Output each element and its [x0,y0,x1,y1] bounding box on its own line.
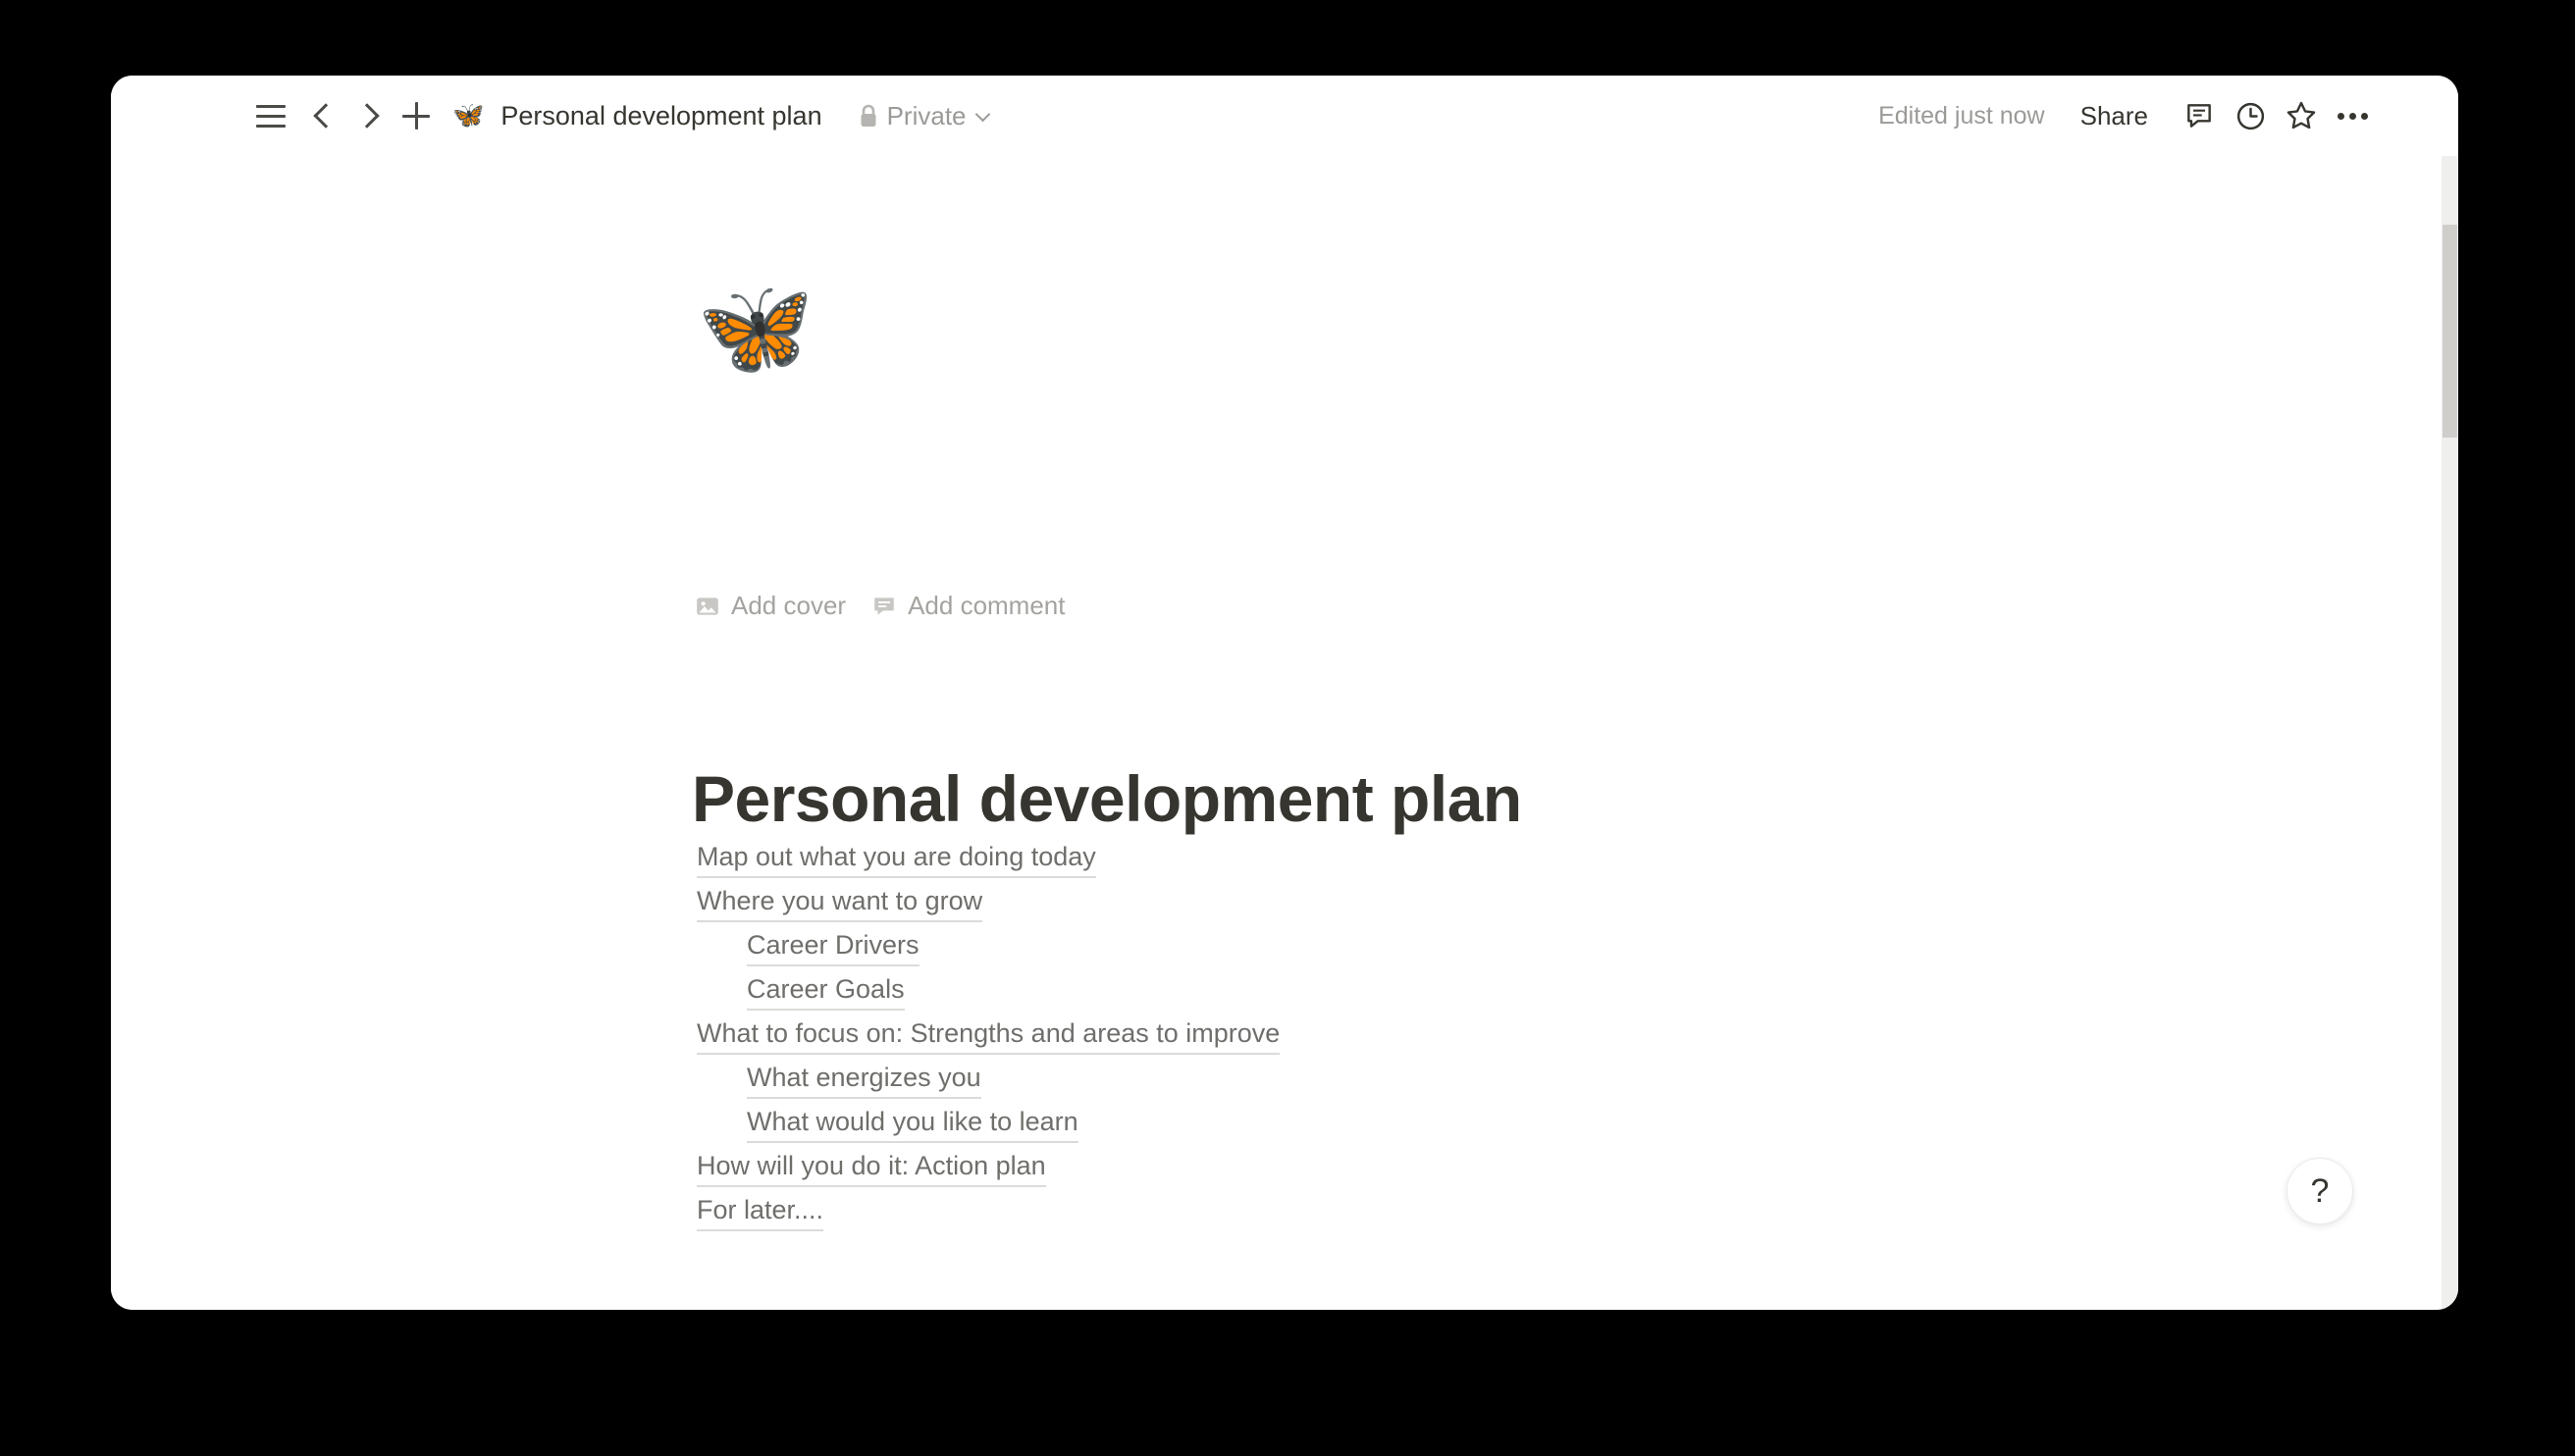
page-action-row: Add cover Add comment [695,591,1065,621]
toc-link[interactable]: Where you want to grow [697,879,2169,923]
app-window: 🦋 Personal development plan Private Edit… [111,76,2458,1310]
clock-history-icon[interactable] [2225,90,2276,141]
toc-link[interactable]: For later.... [697,1188,2169,1232]
comment-bubble-glyph [2183,100,2215,131]
page-title[interactable]: Personal development plan [692,761,1522,836]
hamburger-bar [256,105,286,108]
edited-status-text: Edited just now [1878,102,2045,130]
toc-link-label: Career Goals [747,974,905,1011]
plus-glyph [402,102,430,130]
hamburger-bars [256,105,286,128]
ellipsis-dot [2338,113,2344,120]
chevron-left-icon[interactable] [305,93,346,138]
breadcrumb-page-emoji[interactable]: 🦋 [452,103,484,129]
toc-link[interactable]: Map out what you are doing today [697,835,2169,879]
share-button[interactable]: Share [2071,95,2158,137]
table-of-contents: Map out what you are doing today Where y… [697,835,2169,1232]
comment-bubble-icon [871,594,897,619]
toc-link[interactable]: What would you like to learn [747,1100,2169,1144]
ellipsis-dot [2361,113,2368,120]
hamburger-menu-icon[interactable] [248,93,293,138]
breadcrumb-page-title[interactable]: Personal development plan [494,97,828,135]
toc-link-label: What would you like to learn [747,1107,1078,1143]
add-comment-button[interactable]: Add comment [871,591,1065,621]
help-button[interactable]: ? [2286,1158,2353,1224]
toc-link[interactable]: What energizes you [747,1056,2169,1100]
privacy-label: Private [887,101,967,131]
toolbar-left-group: 🦋 Personal development plan Private [248,76,996,156]
comment-bubble-icon[interactable] [2174,90,2225,141]
add-cover-button[interactable]: Add cover [695,591,846,621]
toc-link-label: For later.... [697,1195,823,1231]
hamburger-bar [256,115,286,118]
hamburger-bar [256,125,286,128]
vertical-scrollbar-track[interactable] [2442,156,2458,1310]
chevron-down-icon [974,106,990,122]
top-toolbar: 🦋 Personal development plan Private Edit… [111,76,2458,156]
add-comment-label: Add comment [908,591,1065,621]
chevron-left-glyph [313,103,338,128]
plus-icon[interactable] [394,93,439,138]
ellipsis-dot [2349,113,2356,120]
toc-link-label: Map out what you are doing today [697,842,1096,878]
page-content-scroll-area[interactable]: 🦋 Add cover Add comm [111,156,2458,1310]
star-glyph [2285,99,2318,132]
toc-link-label: Career Drivers [747,930,920,966]
toc-link[interactable]: What to focus on: Strengths and areas to… [697,1012,2169,1056]
privacy-selector[interactable]: Private [851,97,996,135]
image-icon [695,594,720,619]
toc-link[interactable]: How will you do it: Action plan [697,1144,2169,1188]
ellipsis-icon[interactable] [2327,90,2378,141]
plus-vertical [415,102,418,130]
toc-link[interactable]: Career Drivers [747,923,2169,967]
toc-link[interactable]: Career Goals [747,967,2169,1012]
toc-link-label: What to focus on: Strengths and areas to… [697,1018,1280,1055]
star-icon[interactable] [2276,90,2327,141]
page-icon-emoji[interactable]: 🦋 [697,281,815,375]
toolbar-right-group: Edited just now Share [1878,76,2378,156]
toc-link-label: How will you do it: Action plan [697,1151,1046,1187]
toc-link-label: Where you want to grow [697,886,982,922]
chevron-right-glyph [354,103,379,128]
chevron-right-icon[interactable] [346,93,388,138]
lock-icon [859,104,878,129]
toc-link-label: What energizes you [747,1063,981,1099]
clock-history-glyph [2234,100,2267,132]
vertical-scrollbar-thumb[interactable] [2443,225,2457,438]
add-cover-label: Add cover [731,591,846,621]
